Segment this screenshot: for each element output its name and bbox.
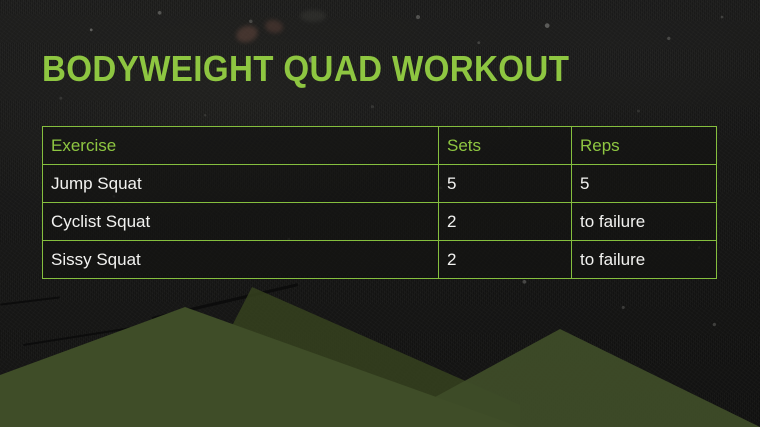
cell-reps: 5 [572, 165, 717, 203]
cell-sets: 2 [439, 241, 572, 279]
mountain-decoration [0, 287, 760, 427]
background-blotch-gray [300, 10, 326, 22]
cell-reps: to failure [572, 203, 717, 241]
column-header-exercise: Exercise [43, 127, 439, 165]
slide-canvas: Bodyweight Quad Workout Exercise Sets Re… [0, 0, 760, 427]
cell-sets: 5 [439, 165, 572, 203]
table-row: Cyclist Squat 2 to failure [43, 203, 717, 241]
table-header-row: Exercise Sets Reps [43, 127, 717, 165]
cell-exercise: Jump Squat [43, 165, 439, 203]
cell-exercise: Cyclist Squat [43, 203, 439, 241]
page-title: Bodyweight Quad Workout [42, 50, 569, 88]
table-row: Sissy Squat 2 to failure [43, 241, 717, 279]
workout-table: Exercise Sets Reps Jump Squat 5 5 Cyclis… [42, 126, 717, 279]
table-row: Jump Squat 5 5 [43, 165, 717, 203]
column-header-reps: Reps [572, 127, 717, 165]
cell-exercise: Sissy Squat [43, 241, 439, 279]
cell-sets: 2 [439, 203, 572, 241]
column-header-sets: Sets [439, 127, 572, 165]
cell-reps: to failure [572, 241, 717, 279]
